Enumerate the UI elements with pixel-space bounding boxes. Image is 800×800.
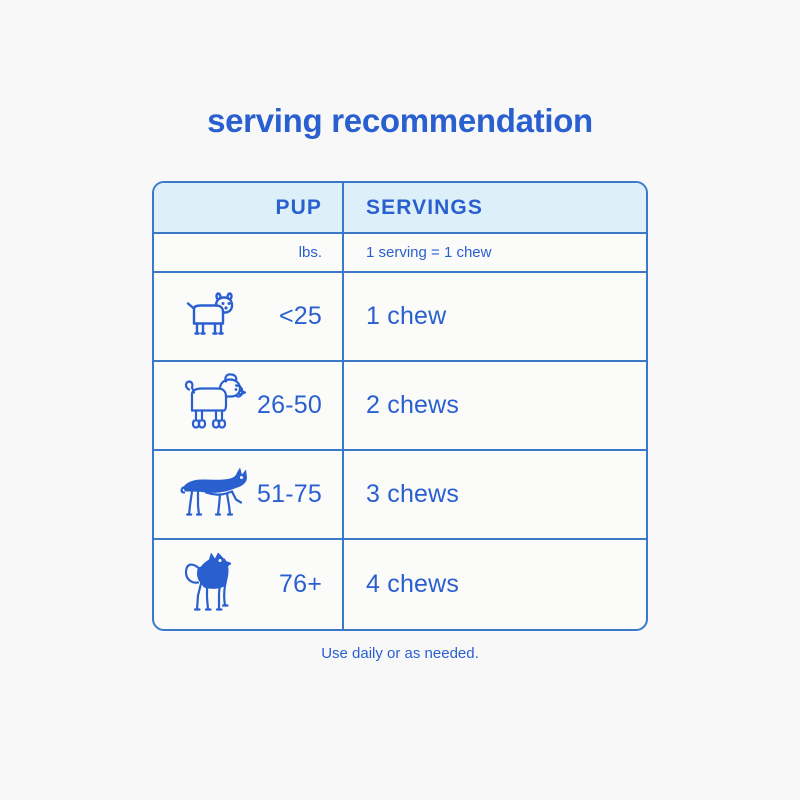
column-header-pup: PUP (154, 196, 342, 220)
row-cell-servings: 3 chews (344, 451, 646, 538)
header-cell-pup: PUP (154, 183, 344, 232)
row-cell-servings: 1 chew (344, 273, 646, 360)
row-cell-pup: 51-75 (154, 451, 344, 538)
column-subheader-servings: 1 serving = 1 chew (366, 244, 492, 261)
table-row: 26-50 2 chews (154, 362, 646, 451)
header-cell-servings: SERVINGS (344, 183, 646, 232)
serving-table: PUP SERVINGS lbs. 1 serving = 1 chew (152, 181, 648, 631)
table-row: 51-75 3 chews (154, 451, 646, 540)
row-cell-pup: 76+ (154, 540, 344, 629)
poodle-dog-icon (180, 372, 246, 439)
table-row: <25 1 chew (154, 273, 646, 362)
row-cell-servings: 4 chews (344, 540, 646, 629)
row-cell-pup: <25 (154, 273, 344, 360)
husky-dog-icon (180, 547, 246, 622)
table-subheader-row: lbs. 1 serving = 1 chew (154, 234, 646, 273)
footer-note: Use daily or as needed. (0, 645, 800, 662)
row-servings: 1 chew (366, 302, 446, 331)
row-cell-servings: 2 chews (344, 362, 646, 449)
row-cell-pup: 26-50 (154, 362, 344, 449)
table-row: 76+ 4 chews (154, 540, 646, 629)
subheader-cell-pup: lbs. (154, 234, 344, 271)
row-servings: 2 chews (366, 391, 459, 420)
serving-recommendation-card: serving recommendation PUP SERVINGS lbs.… (0, 0, 800, 800)
small-dog-icon (180, 290, 242, 343)
table-header-row: PUP SERVINGS (154, 183, 646, 234)
row-servings: 4 chews (366, 570, 459, 599)
subheader-cell-servings: 1 serving = 1 chew (344, 234, 646, 271)
shepherd-dog-icon (180, 465, 258, 524)
column-subheader-pup: lbs. (154, 244, 342, 261)
column-header-servings: SERVINGS (366, 196, 483, 220)
row-servings: 3 chews (366, 480, 459, 509)
page-title: serving recommendation (0, 101, 800, 141)
